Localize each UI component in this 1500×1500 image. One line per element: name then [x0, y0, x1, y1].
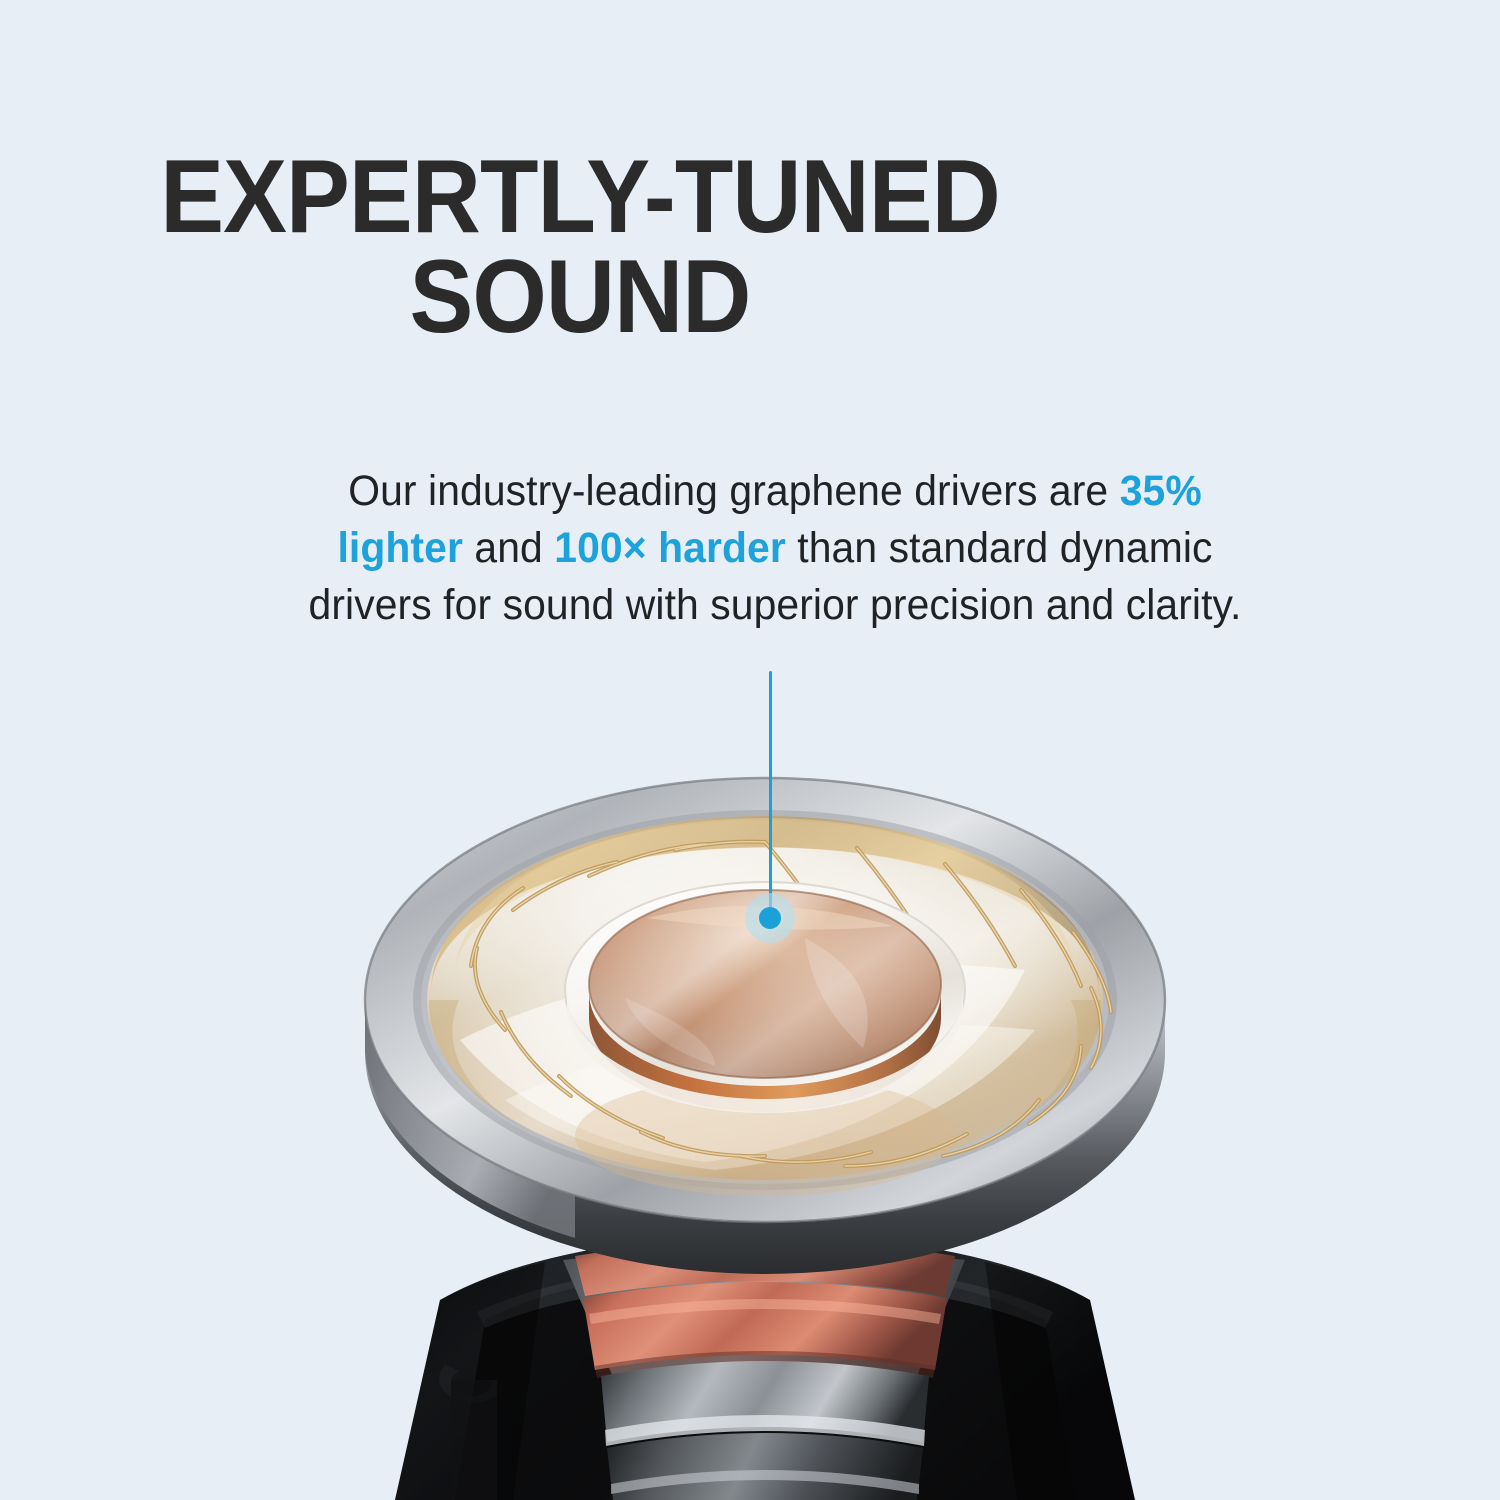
description-segment-2: and	[463, 524, 554, 572]
graphene-driver-illustration	[245, 700, 1285, 1500]
highlight-harder: 100× harder	[554, 524, 786, 572]
product-description: Our industry-leading graphene drivers ar…	[295, 463, 1255, 635]
description-segment-1: Our industry-leading graphene drivers ar…	[348, 467, 1119, 515]
marketing-image-canvas: EXPERTLY-TUNED SOUND Our industry-leadin…	[0, 0, 1500, 1500]
driver-plate	[365, 778, 1165, 1274]
page-title: EXPERTLY-TUNED SOUND	[111, 148, 1049, 348]
magnet-lower	[607, 1433, 923, 1500]
callout-leader-line	[769, 671, 772, 919]
callout-dot	[759, 907, 781, 929]
